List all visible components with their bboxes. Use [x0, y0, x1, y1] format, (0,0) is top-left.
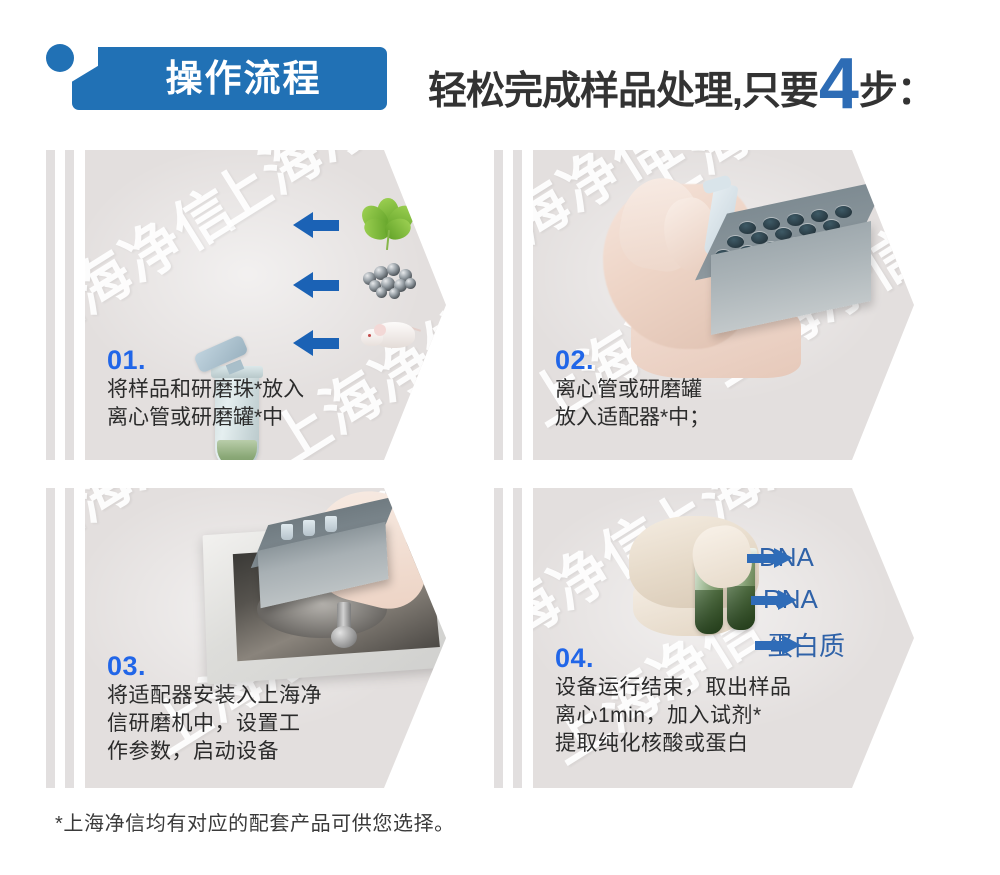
card-accent-bar	[494, 150, 503, 460]
step-description: 离心管或研磨罐 放入适配器*中；	[555, 376, 710, 431]
step-description: 将适配器安装入上海净 信研磨机中，设置工 作参数，启动设备	[107, 682, 322, 765]
step-caption: 01. 将样品和研磨珠*放入 离心管或研磨罐*中	[107, 346, 304, 432]
footer-note: *上海净信均有对应的配套产品可供您选择。	[55, 807, 455, 836]
arrow-left-icon	[293, 272, 339, 298]
watermark-text: 上海净信	[85, 163, 249, 361]
arrow-left-icon	[293, 212, 339, 238]
step-number: 01.	[107, 346, 304, 374]
lab-mouse-icon	[361, 316, 419, 352]
headline-step-count: 4	[819, 56, 858, 114]
steel-beads-icon	[361, 260, 417, 292]
step-description: 设备运行结束，取出样品 离心1min，加入试剂* 提取纯化核酸或蛋白	[555, 674, 792, 757]
section-banner-label: 操作流程	[72, 47, 387, 110]
card-accent-bar	[65, 488, 74, 788]
step-card-body: 上海净信 上海净信 上海净信 上海净信	[533, 150, 914, 460]
step-card-02: 上海净信 上海净信 上海净信 上海净信	[494, 150, 914, 460]
step-number: 03.	[107, 652, 322, 680]
headline-post-text: 步：	[859, 60, 935, 116]
page-header: 操作流程 轻松完成样品处理,只要 4 步：	[0, 0, 1000, 135]
card-accent-bar	[513, 150, 522, 460]
card-accent-bar	[494, 488, 503, 788]
output-row-dna: DNA	[747, 542, 814, 573]
step-card-body: 上海净信 上海净信 上海净信 DNA RNA 蛋白质 04. 设备运行结束，取出…	[533, 488, 914, 788]
leaf-icon	[363, 198, 413, 250]
step-card-04: 上海净信 上海净信 上海净信 DNA RNA 蛋白质 04. 设备运行结束，取出…	[494, 488, 914, 788]
step-number: 04.	[555, 644, 792, 672]
step-caption: 03. 将适配器安装入上海净 信研磨机中，设置工 作参数，启动设备	[107, 652, 322, 766]
card-accent-bar	[65, 150, 74, 460]
card-accent-bar	[46, 150, 55, 460]
step-card-body: 上海净信 上海净信 上海净信	[85, 150, 446, 460]
page-headline: 轻松完成样品处理,只要 4 步：	[428, 52, 935, 110]
arrow-right-icon	[751, 590, 797, 610]
card-accent-bar	[46, 488, 55, 788]
step-card-03: 上海净信 上海净信 上海净信 03. 将适配器安装入上海净 信研磨机中，设置工 …	[46, 488, 446, 788]
circle-dot-icon	[46, 44, 74, 72]
arrow-right-icon	[747, 548, 793, 568]
step-description: 将样品和研磨珠*放入 离心管或研磨罐*中	[107, 376, 304, 431]
step-caption: 04. 设备运行结束，取出样品 离心1min，加入试剂* 提取纯化核酸或蛋白	[555, 644, 792, 758]
output-row-rna: RNA	[751, 584, 818, 615]
headline-pre-text: 轻松完成样品处理,只要	[428, 60, 818, 116]
step-number: 02.	[555, 346, 710, 374]
step-caption: 02. 离心管或研磨罐 放入适配器*中；	[555, 346, 710, 432]
step-card-body: 上海净信 上海净信 上海净信 03. 将适配器安装入上海净 信研磨机中，设置工 …	[85, 488, 446, 788]
card-accent-bar	[513, 488, 522, 788]
step-card-01: 上海净信 上海净信 上海净信	[46, 150, 446, 460]
